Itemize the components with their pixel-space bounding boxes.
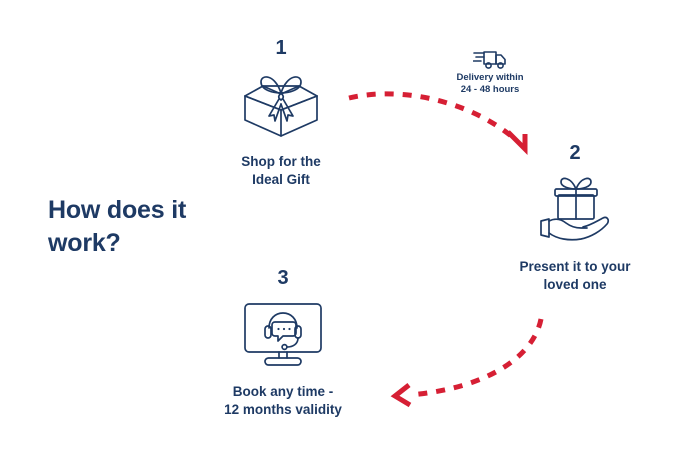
- delivery-note-text: Delivery within 24 - 48 hours: [424, 72, 556, 96]
- step-3-number: 3: [198, 268, 368, 288]
- step-1-caption-line-2: Ideal Gift: [196, 171, 366, 189]
- page-title-line-1: How does: [48, 196, 164, 224]
- step-3-caption-line-1: Book any time -: [198, 383, 368, 401]
- how-it-works-infographic: How does it work? 1: [0, 0, 700, 457]
- step-3-caption-line-2: 12 months validity: [198, 401, 368, 419]
- step-2-caption-line-1: Present it to your: [490, 258, 660, 276]
- hand-holding-gift-icon: [490, 169, 660, 249]
- gift-box-icon: [196, 64, 366, 144]
- step-3: 3 B: [198, 268, 368, 419]
- arrow-step2-to-step3: [410, 319, 541, 395]
- delivery-note: Delivery within 24 - 48 hours: [424, 48, 556, 96]
- step-2: 2 Present it to your loved one: [490, 143, 660, 294]
- step-3-caption: Book any time - 12 months validity: [198, 383, 368, 419]
- step-1-caption: Shop for the Ideal Gift: [196, 153, 366, 189]
- delivery-note-line-2: 24 - 48 hours: [424, 84, 556, 96]
- delivery-note-line-1: Delivery within: [424, 72, 556, 84]
- step-1: 1 Shop for the: [196, 38, 366, 189]
- monitor-support-headset-icon: [198, 294, 368, 374]
- step-1-caption-line-1: Shop for the: [196, 153, 366, 171]
- page-title: How does it work?: [48, 194, 238, 260]
- step-1-number: 1: [196, 38, 366, 58]
- delivery-truck-icon: [424, 48, 556, 70]
- step-2-caption: Present it to your loved one: [490, 258, 660, 294]
- step-2-number: 2: [490, 143, 660, 163]
- arrow-step1-to-step2: [349, 94, 516, 140]
- step-2-caption-line-2: loved one: [490, 276, 660, 294]
- arrow-step2-to-step3-head: [395, 385, 410, 405]
